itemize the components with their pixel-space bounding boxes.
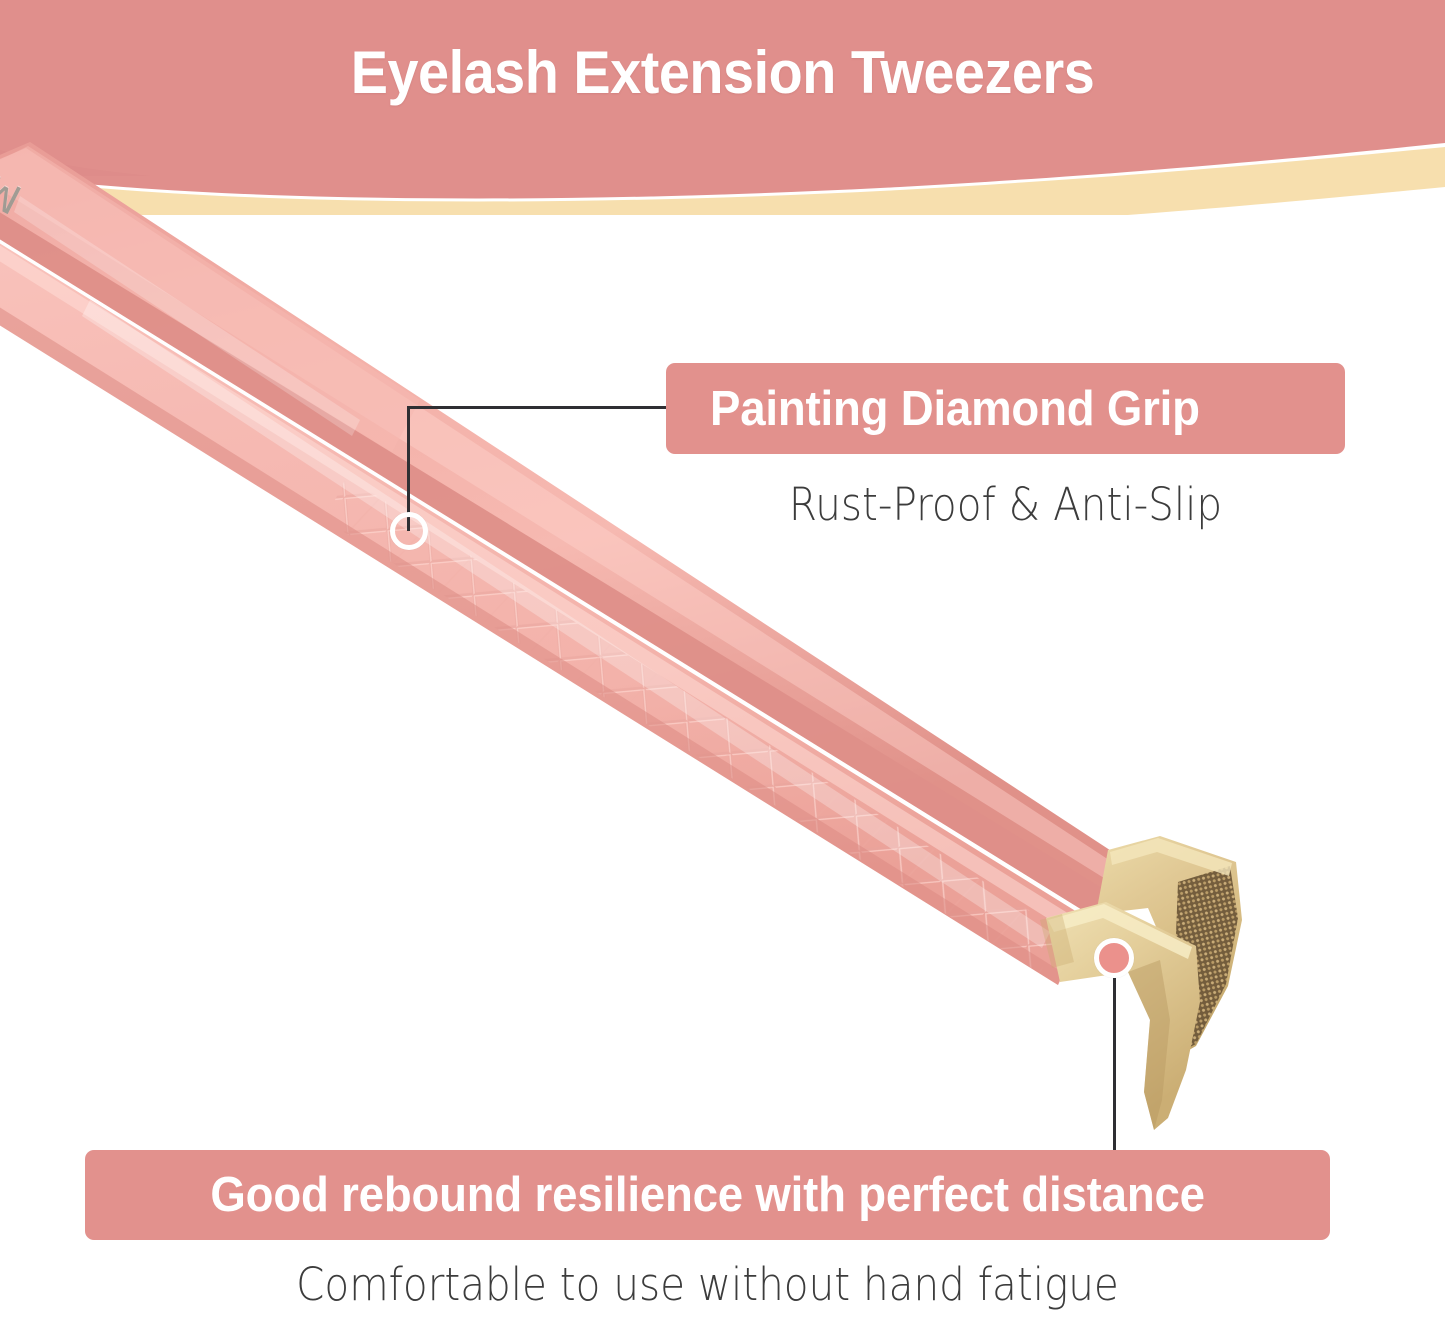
infographic-page: Eyelash Extension Tweezers [0, 0, 1445, 1328]
caption-rust-proof-anti-slip: Rust-Proof & Anti-Slip [700, 478, 1311, 531]
badge-grip-label: Painting Diamond Grip [710, 381, 1200, 437]
badge-painting-diamond-grip: Painting Diamond Grip [666, 363, 1345, 454]
tweezer-front-arm [0, 236, 1090, 985]
caption-comfortable-to-use: Comfortable to use without hand fatigue [147, 1258, 1268, 1311]
callout-marker-grip[interactable] [390, 512, 428, 550]
badge-good-rebound-resilience: Good rebound resilience with perfect dis… [85, 1150, 1330, 1240]
tweezer-product-image [0, 0, 1445, 1328]
callout-marker-rebound[interactable] [1094, 938, 1134, 978]
page-title: Eyelash Extension Tweezers [51, 38, 1395, 107]
badge-rebound-label: Good rebound resilience with perfect dis… [210, 1167, 1204, 1223]
